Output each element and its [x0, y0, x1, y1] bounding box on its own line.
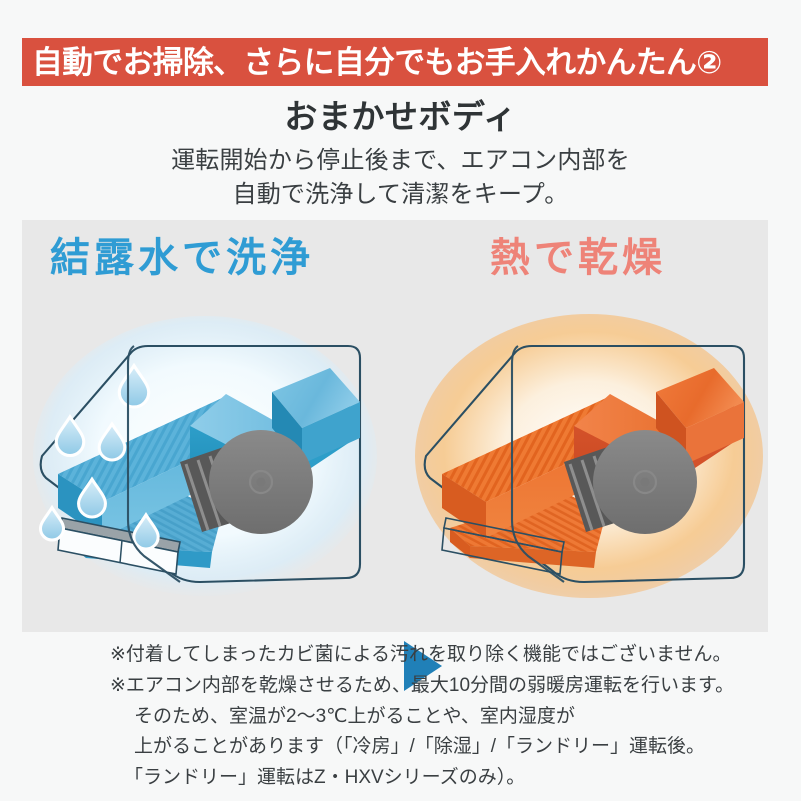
header-banner-text: 自動でお掃除、さらに自分でもお手入れかんたん②: [32, 47, 722, 78]
air-conditioner-heating-illustration: [414, 306, 764, 616]
air-conditioner-cooling-illustration: [30, 306, 380, 616]
header-banner: 自動でお掃除、さらに自分でもお手入れかんたん②: [22, 38, 768, 86]
footnote-line: そのため、室温が2〜3℃上がることや、室内湿度が: [110, 702, 750, 733]
section-label-cooling: 結露水で洗浄: [50, 238, 314, 278]
footnote-line: 上がることがあります（「冷房」/「除湿」/「ランドリー」運転後。: [110, 732, 750, 763]
footnote-line: ※付着してしまったカビ菌による汚れを取り除く機能ではございません。: [110, 640, 750, 671]
headline-subtitle-line-2: 自動で洗浄して清潔をキープ。: [0, 178, 801, 212]
section-label-heating: 熱で乾燥: [490, 238, 666, 278]
headline-subtitle: 運転開始から停止後まで、エアコン内部を 自動で洗浄して清潔をキープ。: [0, 144, 801, 212]
infographic-page: 自動でお掃除、さらに自分でもお手入れかんたん② おまかせボディ 運転開始から停止…: [0, 0, 801, 801]
illustration-panel: 結露水で洗浄 熱で乾燥: [22, 220, 768, 632]
page-title: おまかせボディ: [0, 97, 801, 137]
footnote-line: 「ランドリー」運転はZ・HXVシリーズのみ）。: [110, 763, 750, 794]
footnote-line: ※エアコン内部を乾燥させるため、最大10分間の弱暖房運転を行います。: [110, 671, 750, 702]
headline-block: おまかせボディ 運転開始から停止後まで、エアコン内部を 自動で洗浄して清潔をキー…: [0, 97, 801, 212]
headline-subtitle-line-1: 運転開始から停止後まで、エアコン内部を: [0, 144, 801, 178]
footnotes: ※付着してしまったカビ菌による汚れを取り除く機能ではございません。 ※エアコン内…: [110, 640, 750, 794]
